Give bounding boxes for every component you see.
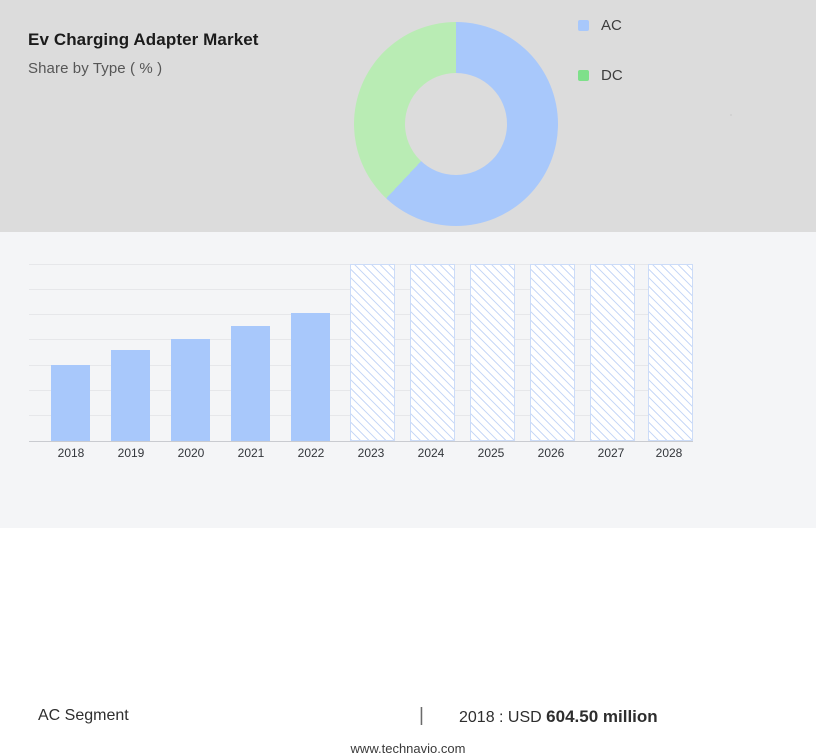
x-axis-tick-labels: 2018 2019 2020 2021 2022 2023 2024 2025 … [29,446,693,464]
segment-label: AC Segment [38,707,129,725]
legend-swatch-icon-ac [578,20,589,31]
legend: AC DC [578,14,698,114]
x-tick-2019: 2019 [101,446,161,460]
donut-chart-panel: Ev Charging Adapter Market Share by Type… [0,0,816,232]
title-block: Ev Charging Adapter Market Share by Type… [28,30,259,77]
chart-page: Ev Charging Adapter Market Share by Type… [0,0,816,528]
bar-2019[interactable] [111,350,150,441]
x-tick-2026: 2026 [521,446,581,460]
x-tick-2020: 2020 [161,446,221,460]
bar-2022[interactable] [291,313,330,441]
forecast-band-2026 [530,264,575,441]
bar-2018[interactable] [51,365,90,441]
x-tick-2024: 2024 [401,446,461,460]
segment-value-highlight: 604.50 million [546,707,658,726]
bar-chart-panel: 2018 2019 2020 2021 2022 2023 2024 2025 … [0,232,816,528]
footer: AC Segment | 2018 : USD 604.50 million [0,707,816,741]
decorative-dot [730,114,732,116]
bar-chart-plot [29,264,693,441]
segment-value-prefix: 2018 : USD [459,709,546,726]
forecast-band-2025 [470,264,515,441]
forecast-band-2023 [350,264,395,441]
page-subtitle: Share by Type ( % ) [28,60,259,77]
legend-item-ac[interactable]: AC [578,14,698,36]
legend-label-dc: DC [601,67,623,84]
legend-item-dc[interactable]: DC [578,64,698,86]
page-title: Ev Charging Adapter Market [28,30,259,50]
x-axis-line [29,441,693,442]
x-tick-2023: 2023 [341,446,401,460]
segment-value: 2018 : USD 604.50 million [459,707,658,727]
donut-chart [354,22,558,226]
source-url[interactable]: www.technavio.com [0,741,816,756]
footer-divider: | [419,705,424,727]
x-tick-2027: 2027 [581,446,641,460]
forecast-band-2024 [410,264,455,441]
x-tick-2028: 2028 [639,446,699,460]
x-tick-2021: 2021 [221,446,281,460]
legend-swatch-icon-dc [578,70,589,81]
forecast-band-2027 [590,264,635,441]
legend-label-ac: AC [601,17,622,34]
x-tick-2025: 2025 [461,446,521,460]
forecast-band-2028 [648,264,693,441]
x-tick-2018: 2018 [41,446,101,460]
x-tick-2022: 2022 [281,446,341,460]
bar-2021[interactable] [231,326,270,441]
bar-2020[interactable] [171,339,210,441]
donut-center-hole [405,73,507,175]
